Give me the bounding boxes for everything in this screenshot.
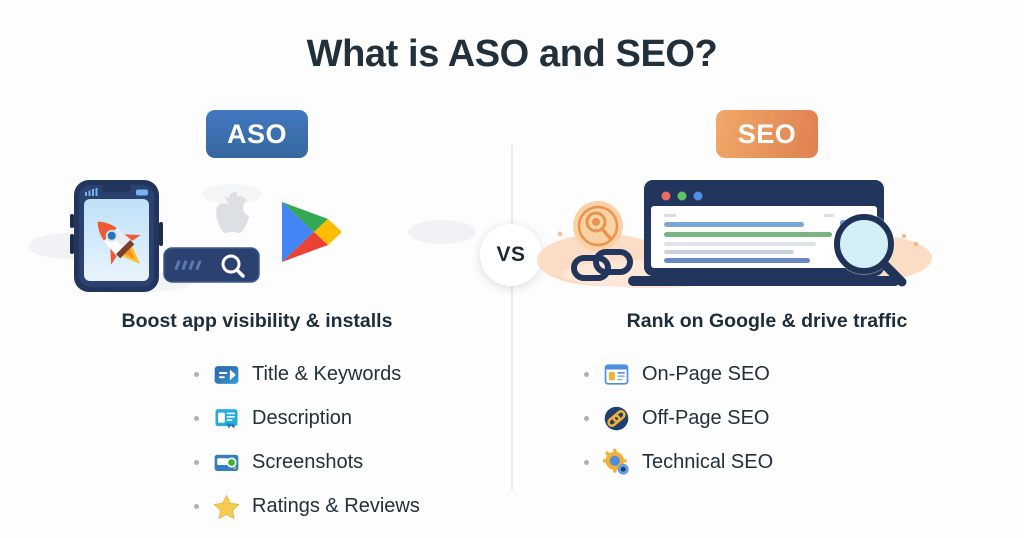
list-item-label: Description (252, 407, 352, 430)
description-icon (213, 405, 240, 432)
aso-item-list: Title & Keywords Description (22, 352, 492, 528)
list-item: On-Page SEO (532, 352, 1002, 396)
aso-illustration-svg (22, 174, 492, 294)
on-page-icon (603, 361, 630, 388)
list-item: Title & Keywords (22, 352, 492, 396)
list-item: Ratings & Reviews (22, 484, 492, 528)
bullet-dot (194, 372, 199, 377)
badge-seo: SEO (716, 110, 818, 158)
gear-icon (603, 449, 630, 476)
screenshots-icon (213, 449, 240, 476)
list-item-label: Off-Page SEO (642, 407, 769, 430)
badge-aso: ASO (206, 110, 308, 158)
bullet-dot (584, 416, 589, 421)
seo-subtitle: Rank on Google & drive traffic (532, 310, 1002, 333)
bullet-dot (194, 504, 199, 509)
list-item: Screenshots (22, 440, 492, 484)
list-item: Description (22, 396, 492, 440)
bullet-dot (194, 460, 199, 465)
bullet-dot (194, 416, 199, 421)
list-item-label: Ratings & Reviews (252, 495, 420, 518)
list-item: Off-Page SEO (532, 396, 1002, 440)
link-icon (603, 405, 630, 432)
list-item: Technical SEO (532, 440, 1002, 484)
list-item-label: Technical SEO (642, 451, 773, 474)
aso-illustration (22, 174, 492, 294)
list-item-label: On-Page SEO (642, 363, 770, 386)
aso-subtitle: Boost app visibility & installs (22, 310, 492, 333)
column-aso: ASO (22, 110, 492, 528)
bullet-dot (584, 372, 589, 377)
infographic-canvas: What is ASO and SEO? VS ASO (0, 0, 1024, 538)
column-seo: SEO (532, 110, 1002, 484)
seo-illustration-svg (532, 174, 1002, 294)
seo-illustration (532, 174, 1002, 294)
column-divider (511, 145, 513, 490)
star-icon (213, 493, 240, 520)
seo-item-list: On-Page SEO Off-Page SEO (532, 352, 1002, 484)
list-item-label: Screenshots (252, 451, 363, 474)
list-item-label: Title & Keywords (252, 363, 401, 386)
page-title: What is ASO and SEO? (0, 33, 1024, 76)
bullet-dot (584, 460, 589, 465)
title-keywords-icon (213, 361, 240, 388)
